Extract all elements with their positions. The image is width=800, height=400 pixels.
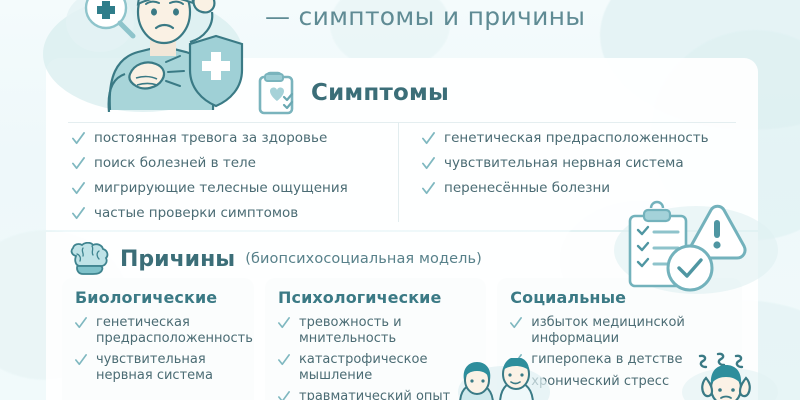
list-item-label: перенесённые болезни	[444, 180, 610, 196]
list-item: избыток медицинской информации	[510, 315, 729, 346]
list-item-label: постоянная тревога за здоровье	[94, 130, 327, 146]
check-icon	[278, 354, 290, 366]
cause-card-biological: Биологические генетическая предрасположе…	[62, 278, 254, 400]
list-item: генетическая предрасположенность	[75, 315, 241, 346]
check-icon	[278, 317, 290, 329]
list-item-label: хронический стресс	[531, 374, 669, 390]
cause-card-title: Социальные	[510, 288, 729, 307]
list-item-label: генетическая предрасположенность	[96, 315, 253, 346]
symptoms-columns: постоянная тревога за здоровье поиск бол…	[46, 116, 758, 230]
check-icon	[75, 354, 87, 366]
causes-card: Причины (биопсихосоциальная модель) Биол…	[46, 232, 758, 400]
check-icon	[422, 132, 435, 145]
check-icon	[72, 182, 85, 195]
cause-card-title: Биологические	[75, 288, 241, 307]
check-icon	[278, 391, 290, 400]
list-item: мигрирующие телесные ощущения	[72, 180, 398, 196]
list-item-label: гиперопека в детстве	[531, 352, 682, 368]
check-icon	[510, 354, 522, 366]
list-item: чувствительная нервная система	[422, 155, 748, 171]
list-item-label: мигрирующие телесные ощущения	[94, 180, 348, 196]
check-icon	[510, 376, 522, 388]
list-item: гиперопека в детстве	[510, 352, 729, 368]
list-item-label: частые проверки симптомов	[94, 205, 298, 221]
list-item-label: чувствительная нервная система	[444, 155, 684, 171]
list-item: генетическая предрасположенность	[422, 130, 748, 146]
causes-heading: Причины	[120, 247, 235, 272]
list-item-label: генетическая предрасположенность	[444, 130, 709, 146]
list-item: травматический опыт	[278, 389, 473, 400]
list-item-label: чувствительная нервная система	[96, 352, 213, 383]
list-item-label: поиск болезней в теле	[94, 155, 256, 171]
causes-header: Причины (биопсихосоциальная модель)	[46, 232, 758, 278]
brain-icon	[68, 242, 110, 276]
symptoms-heading: Симптомы	[311, 80, 449, 106]
list-item: постоянная тревога за здоровье	[72, 130, 398, 146]
list-item: катастрофическое мышление	[278, 352, 473, 383]
list-item: тревожность и мнительность	[278, 315, 473, 346]
check-icon	[72, 207, 85, 220]
symptoms-column-left: постоянная тревога за здоровье поиск бол…	[46, 130, 398, 230]
clipboard-heart-icon	[258, 71, 298, 115]
list-item-label: тревожность и мнительность	[299, 315, 473, 346]
check-icon	[422, 182, 435, 195]
check-icon	[510, 317, 522, 329]
list-item-label: травматический опыт	[299, 389, 450, 400]
symptoms-card: Симптомы постоянная тревога за здоровье …	[46, 58, 758, 230]
vertical-divider	[398, 122, 399, 222]
symptoms-column-right: генетическая предрасположенность чувстви…	[398, 130, 748, 230]
list-item: частые проверки симптомов	[72, 205, 398, 221]
symptoms-header: Симптомы	[46, 58, 758, 116]
check-icon	[422, 157, 435, 170]
page-title: — симптомы и причины	[265, 0, 685, 34]
causes-subtitle: (биопсихосоциальная модель)	[245, 251, 482, 267]
list-item: хронический стресс	[510, 374, 729, 390]
cause-card-psychological: Психологические тревожность и мнительнос…	[265, 278, 486, 400]
list-item-label: избыток медицинской информации	[531, 315, 685, 346]
check-icon	[72, 132, 85, 145]
list-item: поиск болезней в теле	[72, 155, 398, 171]
cause-card-social: Социальные избыток медицинской информаци…	[497, 278, 742, 400]
list-item-label: катастрофическое мышление	[299, 352, 473, 383]
list-item: перенесённые болезни	[422, 180, 748, 196]
check-icon	[72, 157, 85, 170]
cause-card-title: Психологические	[278, 288, 473, 307]
causes-columns: Биологические генетическая предрасположе…	[46, 278, 758, 400]
list-item: чувствительная нервная система	[75, 352, 241, 383]
check-icon	[75, 317, 87, 329]
